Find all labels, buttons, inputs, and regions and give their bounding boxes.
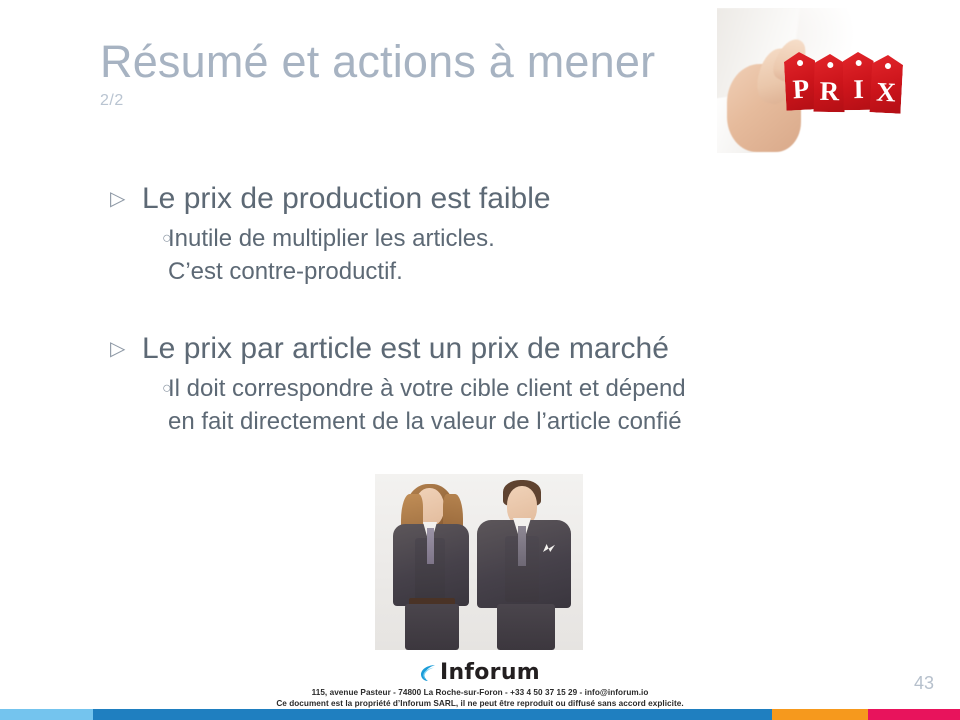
bullet-level1: ▷ Le prix de production est faible — [100, 180, 900, 218]
two-models-in-suits-photo — [375, 474, 583, 650]
page-subtitle: 2/2 — [100, 92, 740, 110]
bullet-level2: ○ Il doit correspondre à votre cible cli… — [100, 372, 900, 438]
company-logo: Inforum — [0, 660, 960, 685]
page-number: 43 — [914, 673, 934, 694]
triangle-bullet-icon: ▷ — [100, 180, 142, 218]
bullet-level2-text: Il doit correspondre à votre cible clien… — [168, 372, 686, 438]
title-block: Résumé et actions à mener 2/2 — [100, 34, 740, 110]
footer-legal-line: Ce document est la propriété d’Inforum S… — [0, 698, 960, 709]
bullet-level1-text: Le prix par article est un prix de march… — [142, 330, 669, 368]
bullet-group-spacer — [100, 288, 900, 330]
bullet-level2: ○ Inutile de multiplier les articles. C’… — [100, 222, 900, 288]
footer: Inforum 115, avenue Pasteur - 74800 La R… — [0, 660, 960, 709]
model-man — [475, 478, 573, 650]
page-title: Résumé et actions à mener — [100, 34, 740, 90]
price-tag-letter: I — [842, 52, 874, 111]
necktie — [427, 528, 434, 564]
color-bar-segment-blue — [93, 709, 772, 720]
footer-address-line: 115, avenue Pasteur - 74800 La Roche-sur… — [0, 687, 960, 698]
color-bar-segment-orange — [772, 709, 868, 720]
bullet-level1-text: Le prix de production est faible — [142, 180, 551, 218]
logo-wordmark: Inforum — [440, 660, 540, 685]
price-tags-group: P R I X — [785, 52, 905, 114]
price-tag-letter: P — [784, 51, 818, 111]
color-bar-segment-magenta — [868, 709, 960, 720]
necktie — [518, 526, 526, 566]
slide-content: ▷ Le prix de production est faible ○ Inu… — [100, 180, 900, 438]
price-tag-letter: X — [870, 54, 904, 114]
circle-bullet-icon: ○ — [100, 222, 168, 255]
trousers — [497, 604, 555, 650]
model-woman — [389, 480, 473, 650]
bottom-color-bar — [0, 709, 960, 720]
bullet-level2-line: C’est contre-productif. — [168, 255, 495, 288]
hand-holding-price-tags-photo: P R I X — [717, 8, 909, 153]
circle-bullet-icon: ○ — [100, 372, 168, 405]
trousers — [405, 604, 459, 650]
slide-canvas: Résumé et actions à mener 2/2 P R I X ▷ … — [0, 0, 960, 720]
color-bar-segment-light-blue — [0, 709, 93, 720]
swoosh-icon — [420, 664, 437, 682]
bullet-level2-text: Inutile de multiplier les articles. C’es… — [168, 222, 495, 288]
price-tag-letter: R — [813, 54, 845, 113]
bullet-level1: ▷ Le prix par article est un prix de mar… — [100, 330, 900, 368]
triangle-bullet-icon: ▷ — [100, 330, 142, 368]
bullet-level2-line: en fait directement de la valeur de l’ar… — [168, 405, 686, 438]
bullet-level2-line: Inutile de multiplier les articles. — [168, 222, 495, 255]
bullet-level2-line: Il doit correspondre à votre cible clien… — [168, 372, 686, 405]
